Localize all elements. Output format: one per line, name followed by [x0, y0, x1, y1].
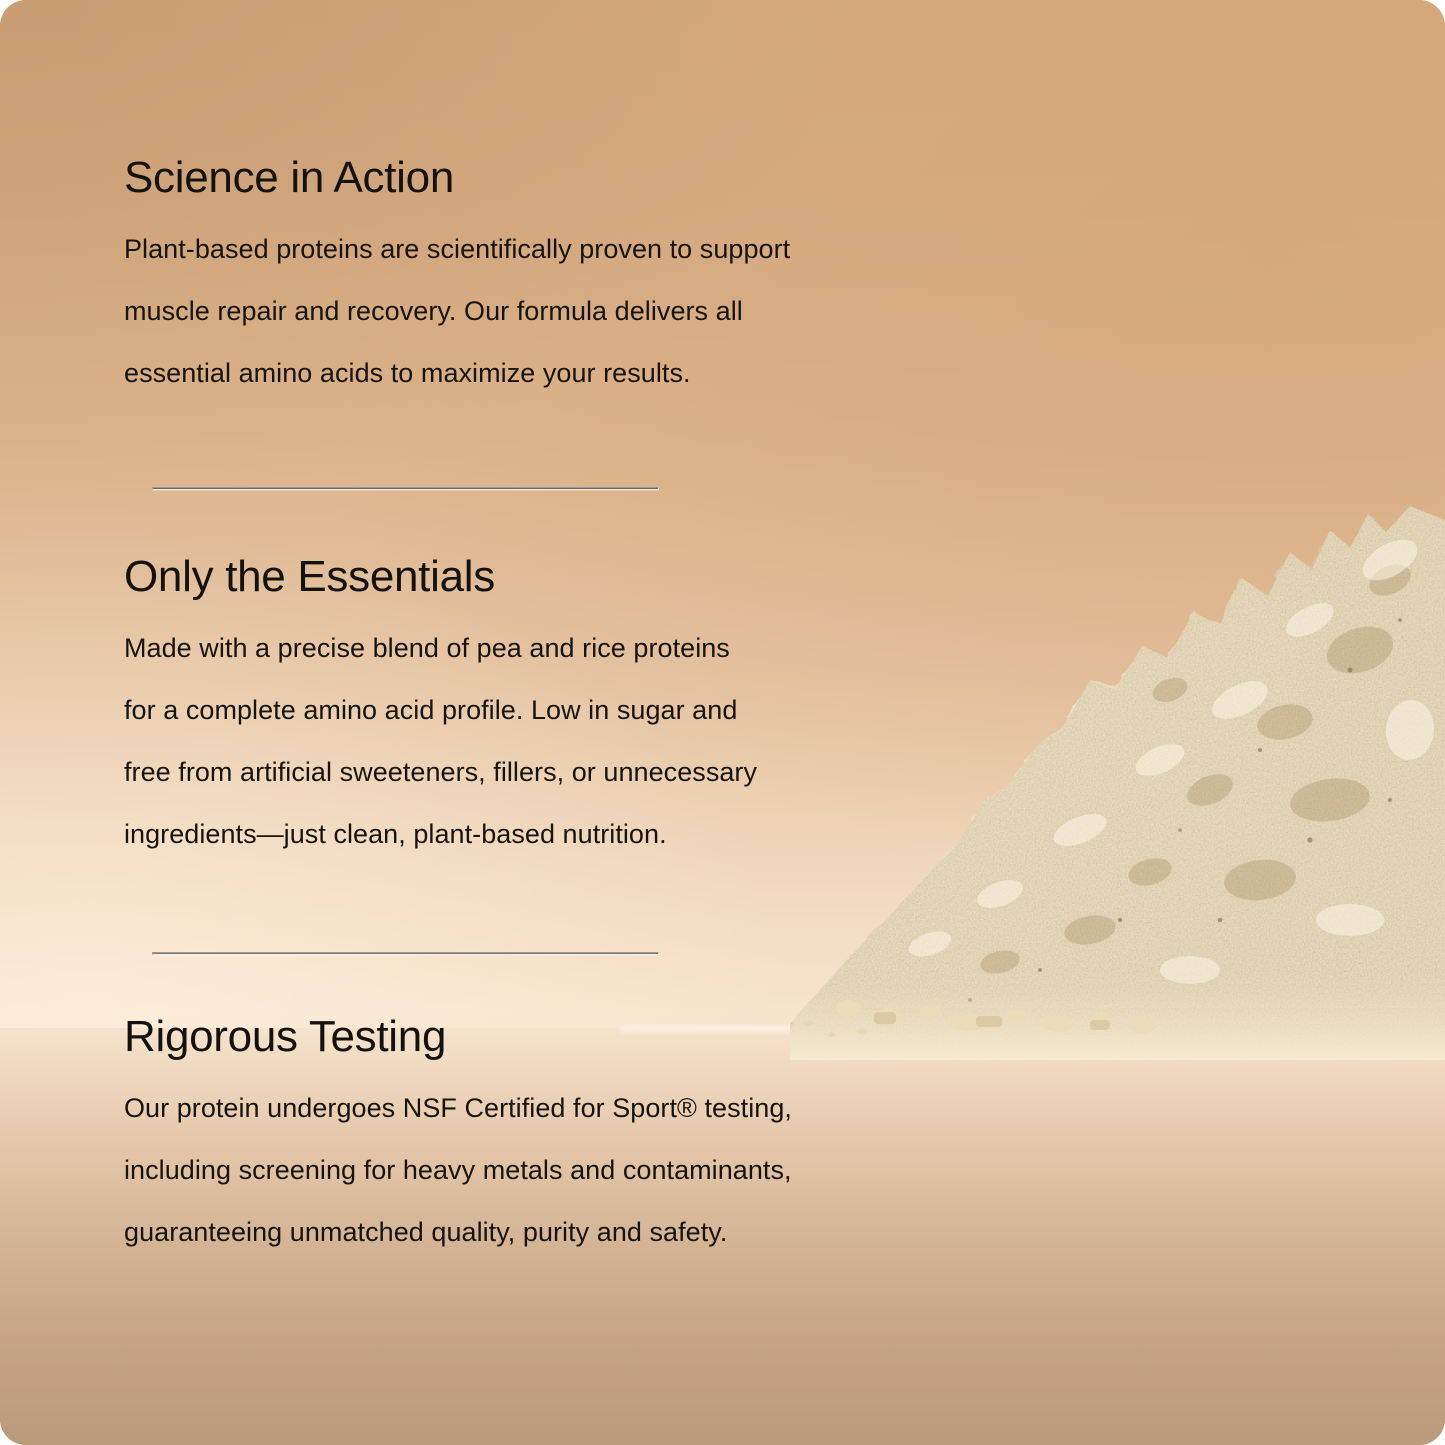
- section-2-body: Made with a precise blend of pea and ric…: [124, 617, 757, 865]
- card-content: Science in Action Plant-based proteins a…: [0, 0, 1445, 1445]
- section-3-title: Rigorous Testing: [124, 1011, 792, 1063]
- section-2-title: Only the Essentials: [124, 551, 757, 603]
- section-divider-1: [152, 487, 659, 490]
- section-rigorous-testing: Rigorous Testing Our protein undergoes N…: [124, 1011, 792, 1263]
- section-3-body: Our protein undergoes NSF Certified for …: [124, 1077, 792, 1263]
- section-1-body: Plant-based proteins are scientifically …: [124, 218, 790, 404]
- product-feature-card: Science in Action Plant-based proteins a…: [0, 0, 1445, 1445]
- section-science-in-action: Science in Action Plant-based proteins a…: [124, 152, 790, 404]
- section-divider-2: [152, 952, 659, 955]
- section-only-the-essentials: Only the Essentials Made with a precise …: [124, 551, 757, 865]
- section-1-title: Science in Action: [124, 152, 790, 204]
